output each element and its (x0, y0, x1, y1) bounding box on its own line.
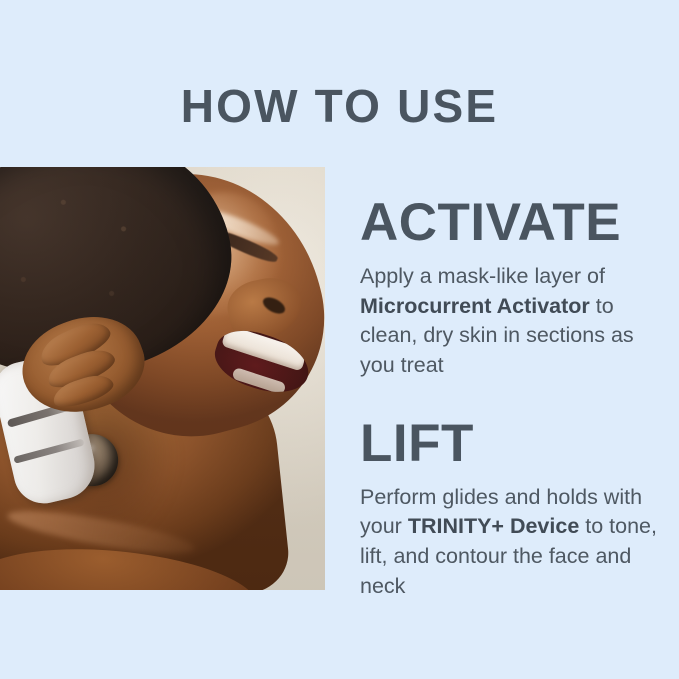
text-run-bold: Microcurrent Activator (360, 294, 590, 318)
step-activate-heading: ACTIVATE (360, 196, 660, 250)
step-activate: ACTIVATE Apply a mask-like layer of Micr… (360, 196, 660, 381)
step-activate-body: Apply a mask-like layer of Microcurrent … (360, 262, 660, 381)
photo-inner (0, 167, 325, 590)
text-run-bold: TRINITY+ Device (408, 514, 579, 538)
instructions-column: ACTIVATE Apply a mask-like layer of Micr… (360, 196, 660, 601)
text-run: Apply a mask-like layer of (360, 264, 605, 288)
page-title: HOW TO USE (0, 83, 679, 129)
step-lift-body: Perform glides and holds with your TRINI… (360, 483, 660, 602)
how-to-use-panel: HOW TO USE (0, 0, 679, 679)
product-usage-photo (0, 167, 325, 590)
step-lift-heading: LIFT (360, 417, 660, 471)
step-lift: LIFT Perform glides and holds with your … (360, 417, 660, 602)
